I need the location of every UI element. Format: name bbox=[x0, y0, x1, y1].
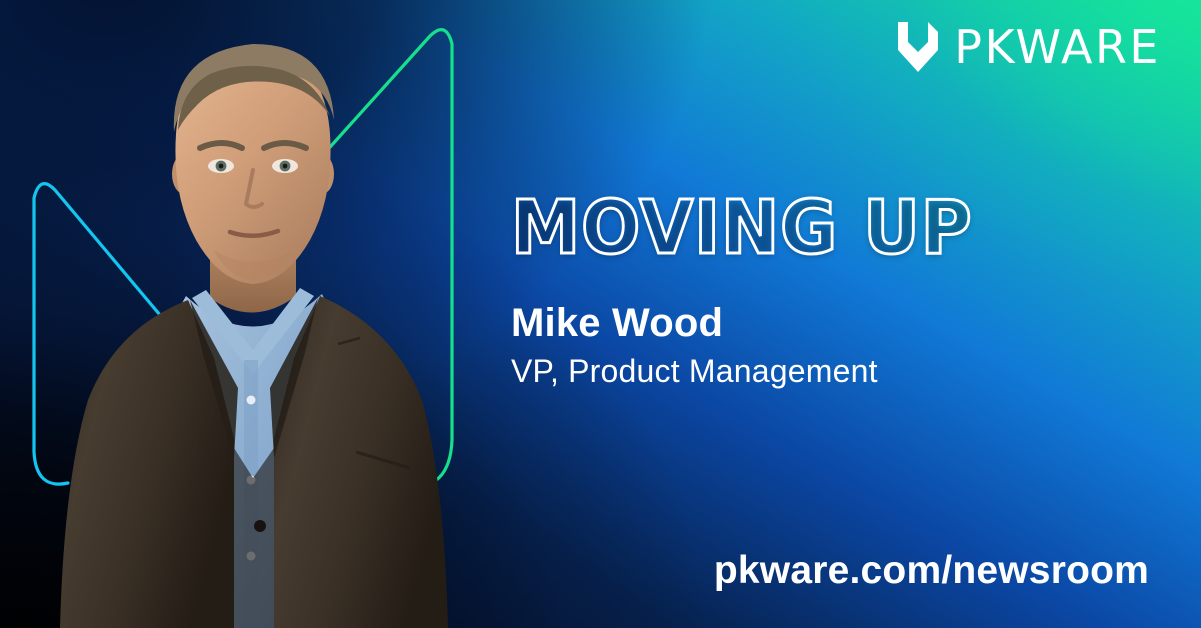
headline-moving-up: MOVING UP bbox=[511, 191, 973, 265]
pkware-wordmark: PKWARE bbox=[954, 24, 1161, 70]
pkware-logo: PKWARE bbox=[896, 20, 1161, 74]
person-name: Mike Wood bbox=[511, 301, 723, 345]
announcement-card: PKWARE MOVING UP Mike Wood VP, Product M… bbox=[0, 0, 1201, 628]
person-photo bbox=[38, 28, 468, 628]
newsroom-url[interactable]: pkware.com/newsroom bbox=[714, 551, 1149, 590]
person-job-title: VP, Product Management bbox=[511, 352, 878, 390]
pkware-shield-icon bbox=[896, 20, 940, 74]
